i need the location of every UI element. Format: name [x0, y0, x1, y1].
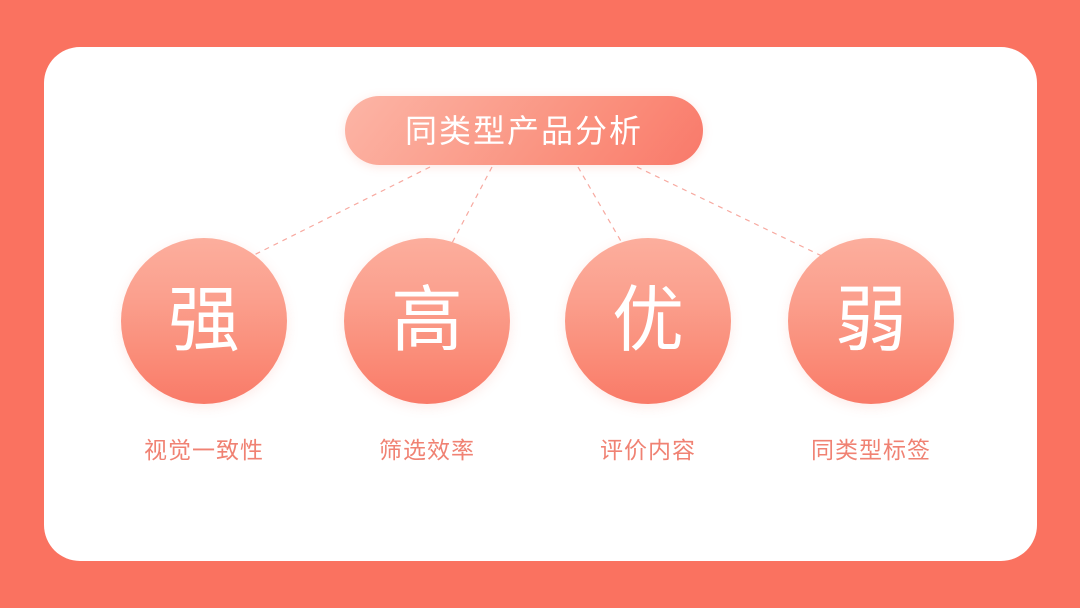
node-label-4: 同类型标签	[811, 439, 931, 462]
node-label-2: 筛选效率	[379, 439, 475, 462]
node-item-3[interactable]: 优 评价内容	[560, 238, 736, 462]
node-circle-2[interactable]: 高	[344, 238, 510, 404]
slide-canvas: 同类型产品分析 强 视觉一致性 高 筛选效率 优 评价内容 弱 同类型标签	[0, 0, 1080, 608]
node-label-3: 评价内容	[600, 439, 696, 462]
node-char-3: 优	[612, 285, 684, 357]
node-char-2: 高	[391, 285, 463, 357]
node-item-4[interactable]: 弱 同类型标签	[783, 238, 959, 462]
node-item-2[interactable]: 高 筛选效率	[339, 238, 515, 462]
node-label-1: 视觉一致性	[144, 439, 264, 462]
node-row: 强 视觉一致性 高 筛选效率 优 评价内容 弱 同类型标签	[0, 0, 1080, 608]
node-char-1: 强	[168, 285, 240, 357]
node-circle-3[interactable]: 优	[565, 238, 731, 404]
node-circle-4[interactable]: 弱	[788, 238, 954, 404]
node-char-4: 弱	[835, 285, 907, 357]
node-item-1[interactable]: 强 视觉一致性	[116, 238, 292, 462]
node-circle-1[interactable]: 强	[121, 238, 287, 404]
